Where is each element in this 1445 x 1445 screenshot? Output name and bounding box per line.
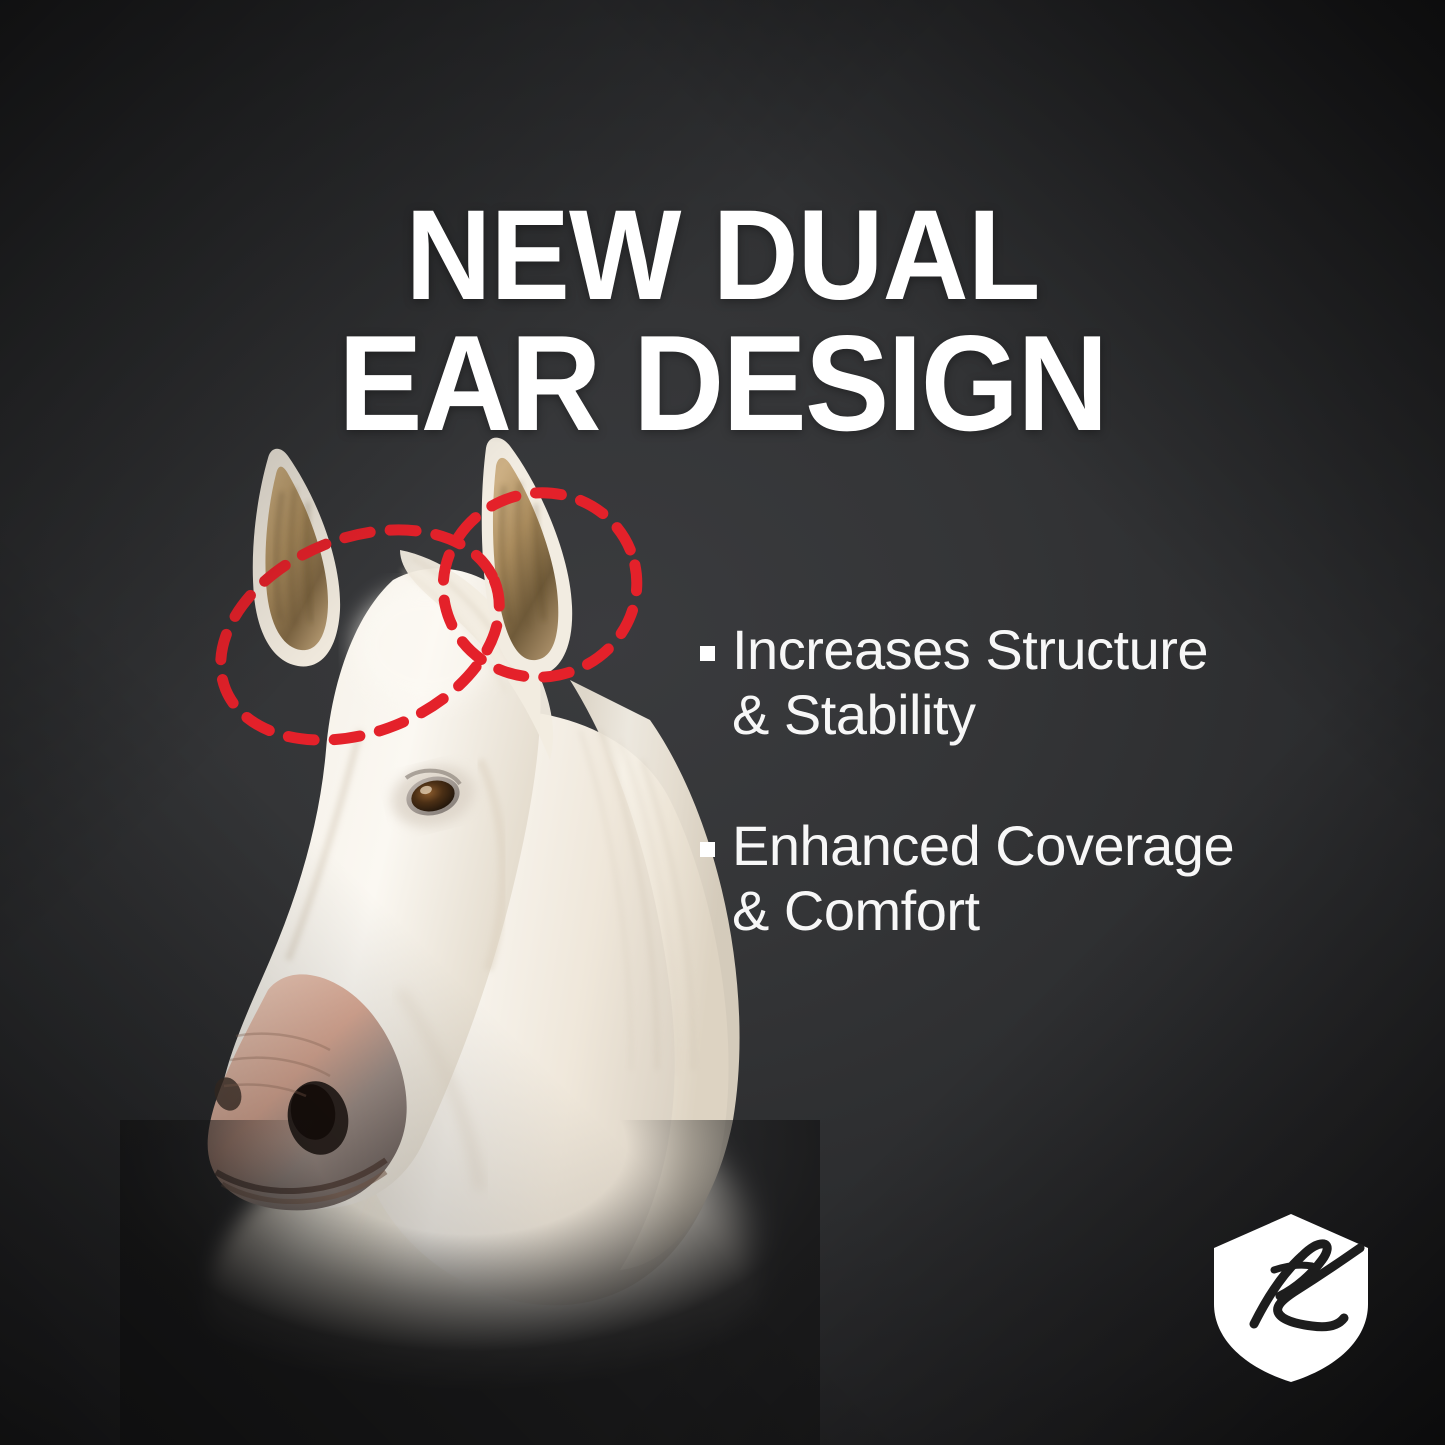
- list-item: Enhanced Coverage & Comfort: [700, 814, 1360, 944]
- feature-list: Increases Structure & Stability Enhanced…: [700, 618, 1360, 1010]
- square-bullet-icon: [700, 646, 715, 661]
- page-title: NEW DUAL EAR DESIGN: [51, 194, 1395, 450]
- square-bullet-icon: [700, 842, 715, 857]
- headline-line-1: NEW DUAL: [134, 194, 1310, 318]
- brand-logo: [1208, 1212, 1374, 1384]
- list-item: Increases Structure & Stability: [700, 618, 1360, 748]
- feature-text: Enhanced Coverage & Comfort: [732, 814, 1234, 944]
- headline-line-2: EAR DESIGN: [134, 318, 1310, 450]
- feature-text: Increases Structure & Stability: [732, 618, 1208, 748]
- promo-banner: NEW DUAL EAR DESIGN Increases Structure …: [0, 0, 1445, 1445]
